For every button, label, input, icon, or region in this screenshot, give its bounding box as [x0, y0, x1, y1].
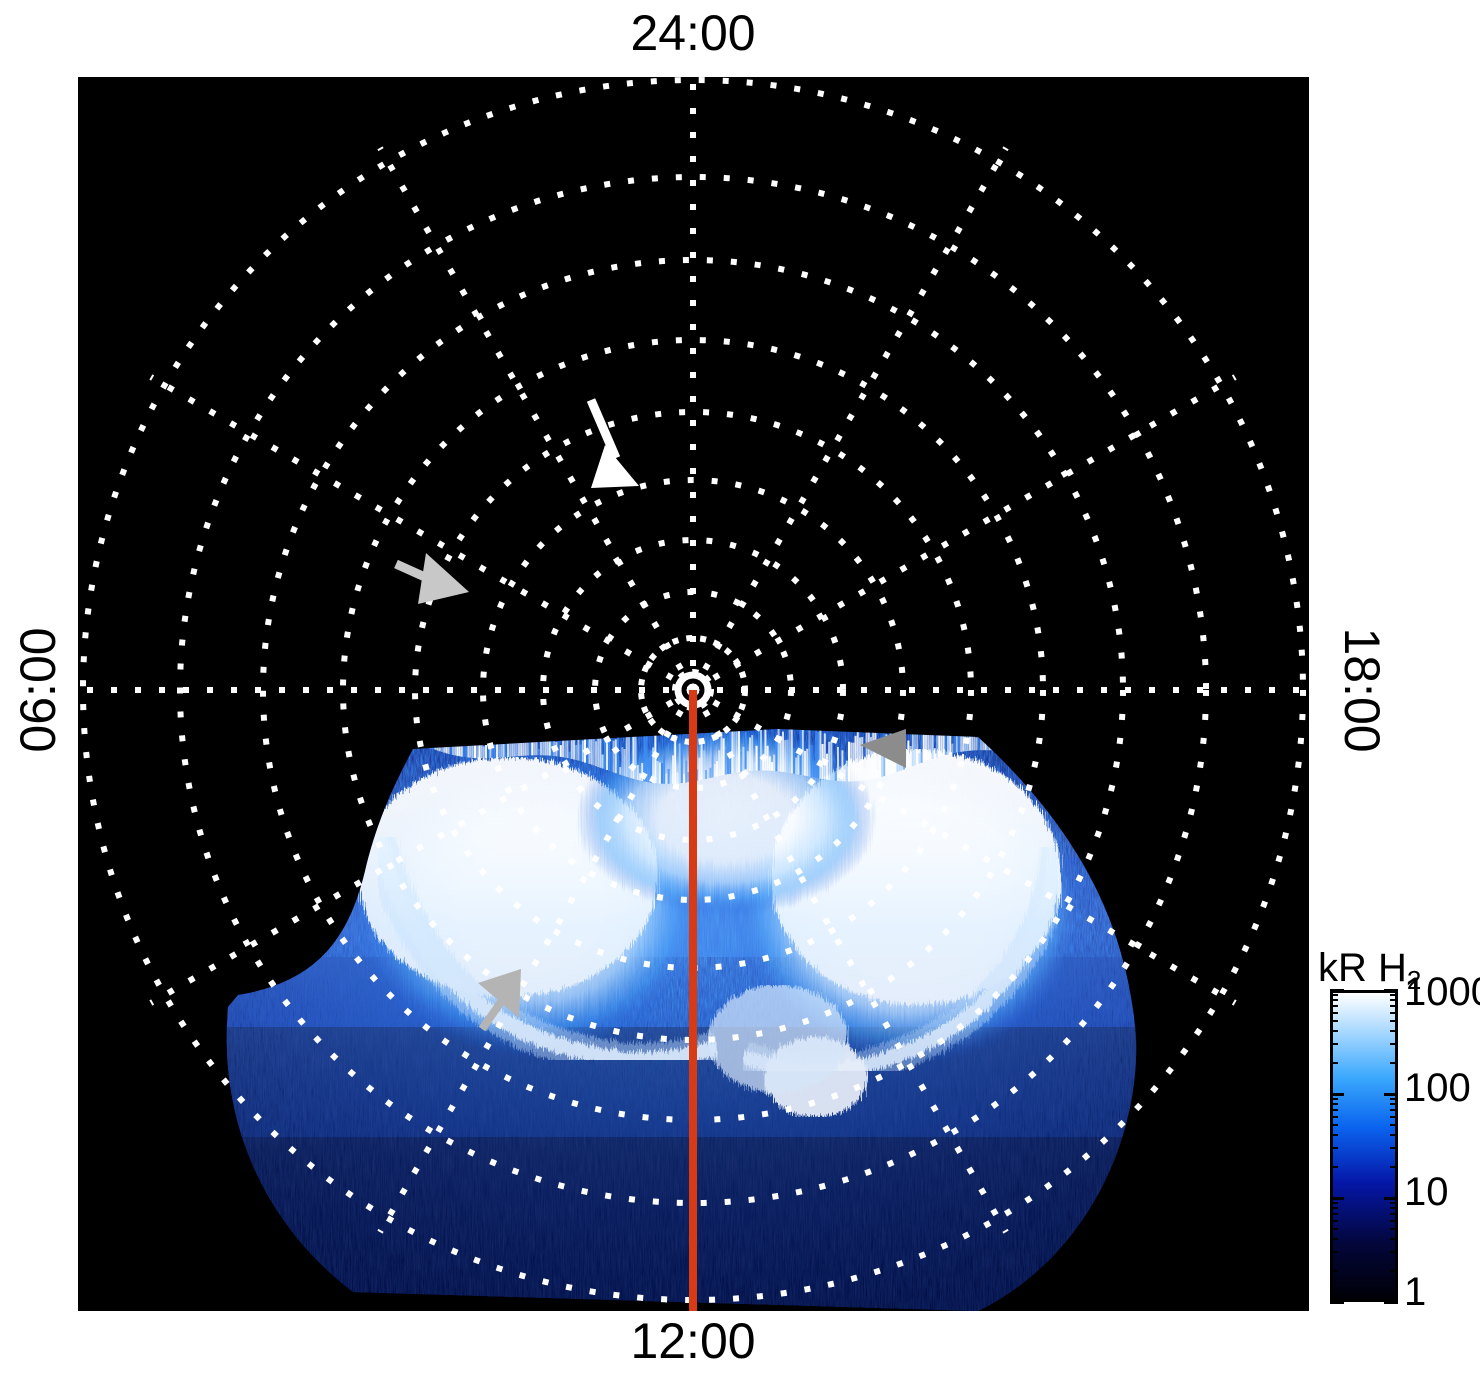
colorbar-minor-tick — [1390, 1098, 1398, 1100]
aurora-edge-spike — [681, 746, 683, 783]
aurora-edge-spike — [775, 739, 777, 772]
colorbar-major-tick — [1330, 1197, 1344, 1200]
aurora-edge-spike — [791, 722, 793, 773]
aurora-edge-spike — [604, 740, 606, 770]
aurora-edge-spike — [918, 753, 920, 764]
aurora-edge-spike — [707, 772, 709, 779]
aurora-edge-spike — [751, 735, 753, 771]
colorbar-minor-tick — [1330, 1124, 1338, 1126]
aurora-edge-spike — [826, 754, 828, 780]
colorbar-minor-tick — [1390, 1202, 1398, 1204]
colorbar-major-tick — [1330, 989, 1344, 992]
aurora-edge-spike — [573, 740, 575, 760]
colorbar-minor-tick — [1390, 1238, 1398, 1240]
colorbar-minor-tick — [1330, 1043, 1338, 1045]
colorbar-minor-tick — [1330, 999, 1338, 1001]
colorbar-wrap — [1330, 990, 1398, 1302]
colorbar-minor-tick — [1390, 1005, 1398, 1007]
aurora-edge-spike — [665, 773, 667, 783]
aurora-edge-spike — [729, 724, 731, 773]
aurora-edge-spike — [723, 738, 725, 775]
aurora-edge-spike — [698, 758, 700, 781]
aurora-edge-spike — [861, 737, 863, 781]
aurora-edge-spike — [804, 751, 806, 776]
aurora-edge-spike — [461, 746, 463, 757]
colorbar-minor-tick — [1330, 1103, 1338, 1105]
aurora-edge-spike — [624, 749, 626, 776]
colorbar-minor-tick — [1390, 1109, 1398, 1111]
aurora-edge-spike — [877, 770, 879, 778]
aurora-edge-spike — [575, 745, 577, 760]
colorbar-minor-tick — [1330, 1012, 1338, 1014]
colorbar-minor-tick — [1330, 1228, 1338, 1230]
aurora-edge-spike — [635, 733, 637, 780]
colorbar-minor-tick — [1390, 1207, 1398, 1209]
aurora-edge-spike — [648, 761, 650, 782]
aurora-edge-spike — [632, 731, 634, 779]
colorbar-minor-tick — [1390, 1147, 1398, 1149]
aurora-edge-spike — [815, 724, 817, 778]
aurora-edge-spike — [483, 746, 485, 758]
aurora-edge-spike — [824, 733, 826, 779]
aurora-edge-spike — [628, 735, 630, 778]
colorbar-minor-tick — [1330, 1166, 1338, 1168]
aurora-edge-spike — [659, 762, 661, 783]
aurora-edge-spike — [740, 752, 742, 772]
aurora-edge-spike — [940, 735, 942, 756]
aurora-edge-spike — [747, 751, 749, 771]
aurora-edge-spike — [753, 762, 755, 770]
aurora-edge-spike — [855, 736, 857, 781]
colorbar-minor-tick — [1390, 1270, 1398, 1272]
aurora-edge-spike — [670, 778, 672, 784]
colorbar-minor-tick — [1330, 1213, 1338, 1215]
aurora-edge-spike — [872, 726, 874, 779]
colorbar-minor-tick — [1330, 1207, 1338, 1209]
colorbar-major-tick — [1384, 1197, 1398, 1200]
aurora-edge-spike — [976, 737, 978, 750]
aurora-edge-spike — [874, 731, 876, 778]
colorbar-minor-tick — [1390, 1043, 1398, 1045]
aurora-edge-spike — [560, 745, 562, 757]
colorbar-minor-tick — [1390, 1030, 1398, 1032]
aurora-edge-spike — [580, 745, 582, 762]
figure-root: 24:00 12:00 06:00 18:00 — [0, 0, 1480, 1384]
colorbar-minor-tick — [1390, 1012, 1398, 1014]
aurora-edge-spike — [802, 723, 804, 775]
aurora-edge-spike — [595, 741, 597, 766]
colorbar-title-text: kR H — [1318, 946, 1407, 990]
aurora-edge-spike — [848, 742, 850, 782]
colorbar-minor-tick — [1330, 1020, 1338, 1022]
aurora-edge-spike — [951, 744, 953, 754]
colorbar-minor-tick — [1390, 1062, 1398, 1064]
aurora-edge-spike — [811, 745, 813, 777]
aurora-edge-spike — [910, 746, 912, 767]
colorbar-tick-label-10: 10 — [1404, 1172, 1449, 1212]
aurora-edge-spike — [734, 730, 736, 773]
colorbar-minor-tick — [1330, 1270, 1338, 1272]
aurora-edge-spike — [602, 755, 604, 769]
aurora-edge-spike — [742, 747, 744, 772]
colorbar-minor-tick — [1390, 1020, 1398, 1022]
aurora-edge-spike — [637, 765, 639, 780]
aurora-edge-spike — [703, 751, 705, 780]
colorbar-minor-tick — [1330, 1030, 1338, 1032]
colorbar-tick-label-1: 1 — [1404, 1272, 1426, 1312]
aurora-edge-spike — [907, 741, 909, 768]
aurora-edge-spike — [852, 743, 854, 782]
aurora-edge-spike — [718, 750, 720, 776]
aurora-edge-spike — [738, 727, 740, 772]
aurora-edge-spike — [813, 761, 815, 778]
colorbar-minor-tick — [1390, 1220, 1398, 1222]
colorbar-minor-tick — [1330, 1116, 1338, 1118]
aurora-edge-spike — [683, 774, 685, 783]
colorbar-tick-label-1000: 1000 — [1404, 972, 1480, 1012]
aurora-edge-spike — [668, 769, 670, 784]
aurora-edge-spike — [797, 755, 799, 774]
colorbar-minor-tick — [1330, 1005, 1338, 1007]
aurora-edge-spike — [714, 764, 716, 777]
colorbar-minor-tick — [1330, 994, 1338, 996]
aurora-edge-spike — [661, 763, 663, 784]
aurora-edge-spike — [709, 768, 711, 778]
aurora-edge-spike — [850, 743, 852, 782]
aurora-edge-spike — [701, 741, 703, 780]
aurora-edge-spike — [819, 723, 821, 779]
aurora-edge-spike — [621, 747, 623, 775]
aurora-edge-spike — [745, 732, 747, 771]
aurora-edge-spike — [613, 741, 615, 773]
colorbar-minor-tick — [1390, 1103, 1398, 1105]
colorbar-major-tick — [1384, 1093, 1398, 1096]
aurora-edge-spike — [808, 730, 810, 776]
colorbar-minor-tick — [1390, 1228, 1398, 1230]
aurora-edge-spike — [771, 762, 773, 771]
aurora-edge-spike — [727, 744, 729, 774]
aurora-edge-spike — [663, 757, 665, 784]
colorbar-minor-tick — [1330, 1220, 1338, 1222]
colorbar-minor-tick — [1330, 1251, 1338, 1253]
aurora-edge-spike — [685, 761, 687, 783]
aurora-edge-spike — [866, 726, 868, 780]
aurora-edge-spike — [833, 772, 835, 780]
colorbar-minor-tick — [1390, 1116, 1398, 1118]
aurora-edge-spike — [795, 758, 797, 775]
colorbar-minor-tick — [1390, 1134, 1398, 1136]
colorbar-gradient — [1330, 990, 1398, 1302]
mlt-label-top: 24:00 — [630, 8, 755, 58]
colorbar-minor-tick — [1390, 994, 1398, 996]
aurora-edge-spike — [725, 749, 727, 774]
aurora-edge-spike — [615, 739, 617, 773]
colorbar-minor-tick — [1330, 1134, 1338, 1136]
aurora-edge-spike — [830, 741, 832, 780]
aurora-edge-spike — [925, 732, 927, 761]
aurora-edge-spike — [749, 738, 751, 772]
aurora-edge-spike — [846, 761, 848, 782]
aurora-edge-spike — [538, 749, 540, 755]
aurora-edge-spike — [716, 761, 718, 776]
aurora-edge-spike — [784, 740, 786, 772]
aurora-edge-spike — [676, 773, 678, 784]
colorbar-major-tick — [1384, 989, 1398, 992]
aurora-edge-spike — [859, 737, 861, 781]
colorbar-minor-tick — [1390, 1166, 1398, 1168]
aurora-edge-spike — [793, 748, 795, 774]
aurora-edge-spike — [817, 732, 819, 778]
aurora-edge-spike — [679, 744, 681, 784]
aurora-edge-spike — [934, 748, 936, 758]
colorbar-minor-tick — [1330, 1098, 1338, 1100]
colorbar-minor-tick — [1330, 1109, 1338, 1111]
mlt-label-bottom: 12:00 — [630, 1316, 755, 1366]
aurora-edge-spike — [938, 733, 940, 757]
aurora-edge-spike — [835, 772, 837, 781]
aurora-edge-spike — [786, 740, 788, 773]
aurora-edge-spike — [736, 725, 738, 773]
colorbar-minor-tick — [1330, 1062, 1338, 1064]
aurora-edge-spike — [921, 731, 923, 763]
polar-plot-area — [78, 77, 1309, 1311]
mlt-label-right: 18:00 — [1337, 627, 1387, 752]
aurora-edge-spike — [782, 732, 784, 772]
aurora-edge-spike — [654, 735, 656, 784]
aurora-edge-spike — [705, 770, 707, 779]
colorbar-minor-tick — [1330, 1147, 1338, 1149]
aurora-edge-spike — [619, 767, 621, 775]
colorbar-major-tick — [1330, 1093, 1344, 1096]
aurora-edge-spike — [672, 755, 674, 783]
mlt-label-left: 06:00 — [13, 627, 63, 752]
colorbar-minor-tick — [1330, 1238, 1338, 1240]
colorbar-minor-tick — [1390, 1124, 1398, 1126]
aurora-edge-spike — [969, 735, 971, 751]
aurora-edge-spike — [599, 737, 601, 768]
aurora-edge-spike — [769, 756, 771, 770]
aurora-edge-spike — [610, 752, 612, 772]
colorbar-minor-tick — [1390, 1213, 1398, 1215]
colorbar-minor-tick — [1390, 1251, 1398, 1253]
colorbar-minor-tick — [1390, 999, 1398, 1001]
polar-plot-canvas — [78, 77, 1309, 1311]
colorbar-major-tick — [1330, 1301, 1344, 1304]
colorbar-tick-label-100: 100 — [1404, 1068, 1471, 1108]
aurora-edge-spike — [927, 731, 929, 760]
aurora-edge-spike — [773, 755, 775, 771]
aurora-edge-spike — [542, 741, 544, 755]
aurora-edge-spike — [806, 749, 808, 776]
colorbar-minor-tick — [1330, 1202, 1338, 1204]
aurora-edge-spike — [756, 746, 758, 771]
aurora-edge-spike — [863, 768, 865, 781]
aurora-edge-spike — [657, 761, 659, 783]
aurora-edge-spike — [569, 752, 571, 759]
aurora-edge-spike — [606, 743, 608, 770]
colorbar-major-tick — [1384, 1301, 1398, 1304]
